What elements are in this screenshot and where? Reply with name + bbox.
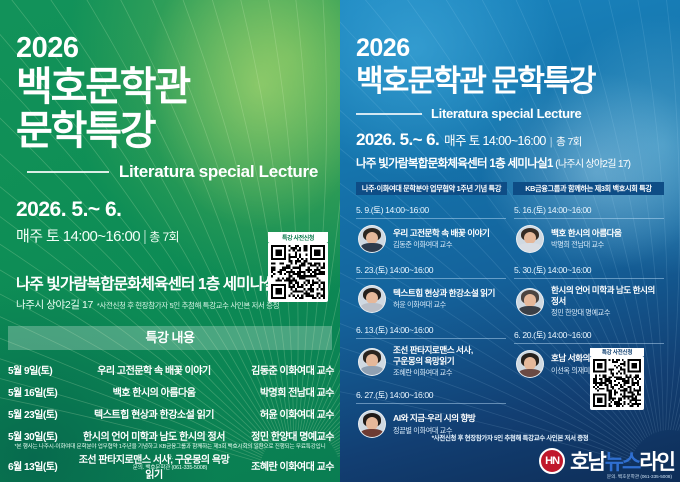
qr-code-icon[interactable] [590, 356, 644, 410]
avatar [358, 285, 386, 313]
blue-latin-subtitle: Literatura special Lecture [431, 106, 581, 121]
green-qr-caption: 특강 사전신청 [268, 232, 328, 242]
avatar [516, 350, 544, 378]
blue-time-separator: | [550, 136, 552, 148]
divider-rule [356, 403, 506, 404]
green-address: 나주시 상야2길 17 [16, 299, 93, 311]
hn-word-c: 라인 [639, 451, 674, 474]
blue-session-count: 총 7회 [556, 134, 582, 149]
hn-badge-icon: HN [539, 448, 565, 474]
session-title: 텍스트힙 현상과 한강소설 읽기 [393, 288, 495, 299]
session-text: 조선 판타지로맨스 서사,구운몽의 욕망읽기조혜란 이화여대 교수 [393, 345, 473, 378]
session-title: 조선 판타지로맨스 서사,구운몽의 욕망읽기 [393, 345, 473, 366]
avatar [516, 288, 544, 316]
session-slot: 5. 23.(토) 14:00~16:00텍스트힙 현상과 한강소설 읽기허윤 … [356, 264, 506, 317]
blue-column-left: 5. 9.(토) 14:00~16:00우리 고전문학 속 배꽃 이야기김동준 … [356, 204, 506, 449]
poster-blue: 2026 백호문학관 문학특강 Literatura special Lectu… [340, 0, 680, 482]
divider-rule [356, 218, 506, 219]
session-time: 6. 27.(토) 14:00~16:00 [356, 389, 506, 403]
session-speaker: 박명희 전남대 교수 [551, 240, 621, 250]
divider-rule [356, 278, 506, 279]
blue-band-right: KB금융그룹과 함께하는 제3회 백호시회 특강 [513, 182, 664, 195]
avatar [358, 225, 386, 253]
poster-pair: 2026 백호문학관 문학특강 Literatura special Lectu… [0, 0, 680, 482]
divider-rule [27, 171, 109, 173]
session-speaker: 조혜란 이화여대 교수 [393, 368, 473, 378]
list-item: 백호 한시의 아름다움박명희 전남대 교수 [514, 224, 664, 257]
blue-year: 2026 [356, 34, 664, 63]
green-session-count: 총 7회 [149, 230, 179, 244]
list-item: 우리 고전문학 속 배꽃 이야기김동준 이화여대 교수 [356, 224, 506, 257]
session-time: 6. 13.(토) 14:00~16:00 [356, 324, 506, 338]
avatar [358, 348, 386, 376]
session-time: 5. 30.(토) 14:00~16:00 [514, 264, 664, 278]
session-slot: 5. 16.(토) 14:00~16:00백호 한시의 아름다움박명희 전남대 … [514, 204, 664, 257]
blue-schedule-time: 매주 토 14:00~16:00 [444, 130, 546, 149]
green-title-line1: 백호문학관 [16, 67, 324, 109]
session-time: 5. 23.(토) 14:00~16:00 [356, 264, 506, 278]
blue-latin-row: Literatura special Lecture [356, 106, 664, 121]
green-time-separator: | [143, 228, 146, 245]
hn-word-b: 뉴스 [605, 451, 640, 474]
session-text: 백호 한시의 아름다움박명희 전남대 교수 [551, 228, 621, 251]
green-date-range: 2026. 5.~ 6. [16, 198, 324, 222]
list-item: 조선 판타지로맨스 서사,구운몽의 욕망읽기조혜란 이화여대 교수 [356, 344, 506, 382]
session-title: 백호 한시의 아름다움 [551, 228, 621, 239]
session-slot: 5. 9.(토) 14:00~16:00우리 고전문학 속 배꽃 이야기김동준 … [356, 204, 506, 257]
blue-date-range: 2026. 5.~ 6. [356, 130, 439, 150]
green-title-line2: 문학특강 [16, 111, 324, 153]
session-time: 6. 20.(토) 14:00~16:00 [514, 329, 664, 343]
list-item: 텍스트힙 현상과 한강소설 읽기허윤 이화여대 교수 [356, 284, 506, 317]
session-slot: 5. 30.(토) 14:00~16:00한시의 언어 미학과 남도 한시의 정… [514, 264, 664, 322]
blue-contact-sub: 문의. 백호문학관 (061-335-5008) [607, 474, 672, 480]
session-text: 텍스트힙 현상과 한강소설 읽기허윤 이화여대 교수 [393, 288, 495, 311]
session-title: AI와 지금·우리 시의 향방 [393, 413, 475, 424]
green-schedule-time: 매주 토 14:00~16:00 [16, 228, 140, 245]
session-time: 5. 16.(토) 14:00~16:00 [514, 204, 664, 218]
blue-band-row: 나주·이화여대 문학분야 업무협약 1주년 기념 특강 KB금융그룹과 함께하는… [356, 182, 664, 195]
session-speaker: 허윤 이화여대 교수 [393, 300, 495, 310]
green-year: 2026 [16, 32, 324, 65]
divider-rule [514, 278, 664, 279]
session-speaker: 정민 한양대 명예교수 [551, 308, 664, 318]
blue-venue: 나주 빛가람복합문화체육센터 1층 세미나실1 [356, 158, 553, 170]
session-title: 한시의 언어 미학과 남도 한시의 정서 [551, 285, 664, 306]
blue-venue-row: 나주 빛가람복합문화체육센터 1층 세미나실1 (나주시 상야2길 17) [356, 155, 664, 171]
green-latin-subtitle: Literatura special Lecture [119, 162, 318, 182]
blue-column-right: 5. 16.(토) 14:00~16:00백호 한시의 아름다움박명희 전남대 … [514, 204, 664, 449]
qr-code-icon[interactable] [268, 242, 328, 302]
blue-note: *사전신청 후 현장참가자 5인 추첨해 특강교수 사인본 저서 증정 [340, 433, 680, 442]
green-address-note: *사전신청 후 현장참가자 5인 추첨해 특강교수 사인본 저서 증정 [97, 301, 279, 310]
blue-address: (나주시 상야2길 17) [555, 159, 630, 170]
session-title: 우리 고전문학 속 배꽃 이야기 [393, 228, 489, 239]
poster-green: 2026 백호문학관 문학특강 Literatura special Lectu… [0, 0, 340, 482]
session-slot: 6. 13.(토) 14:00~16:00조선 판타지로맨스 서사,구운몽의 욕… [356, 324, 506, 382]
session-speaker: 김동준 이화여대 교수 [393, 240, 489, 250]
honam-newsline-logo: HN 호남뉴스라인 [539, 446, 674, 476]
divider-rule [514, 218, 664, 219]
avatar [516, 225, 544, 253]
blue-title: 백호문학관 문학특강 [356, 65, 664, 98]
blue-band-left: 나주·이화여대 문학분야 업무협약 1주년 기념 특강 [356, 182, 507, 195]
session-text: 한시의 언어 미학과 남도 한시의 정서정민 한양대 명예교수 [551, 285, 664, 318]
blue-date-line: 2026. 5.~ 6. 매주 토 14:00~16:00 | 총 7회 [356, 130, 664, 150]
hn-word-a: 호남 [570, 451, 605, 474]
blue-qr-block[interactable]: 특강 사전신청 [590, 348, 644, 410]
blue-qr-caption: 특강 사전신청 [590, 348, 644, 356]
hn-wordmark: 호남뉴스라인 [570, 446, 674, 476]
green-footnote-line1: *본 행사는 나주시-이화여대 문학분야 업무협약 1주년을 기념하고 KB금융… [12, 442, 328, 463]
green-footnote-line2: 문의. 백호문학관 (061-335-5008) [12, 463, 328, 474]
green-footnote: *본 행사는 나주시-이화여대 문학분야 업무협약 1주년을 기념하고 KB금융… [0, 442, 340, 474]
session-text: 우리 고전문학 속 배꽃 이야기김동준 이화여대 교수 [393, 228, 489, 251]
divider-rule [356, 338, 506, 339]
session-time: 5. 9.(토) 14:00~16:00 [356, 204, 506, 218]
divider-rule [514, 343, 664, 344]
divider-rule [356, 113, 422, 115]
green-latin-row: Literatura special Lecture [16, 162, 324, 182]
green-qr-block[interactable]: 특강 사전신청 [268, 232, 328, 302]
blue-session-columns: 5. 9.(토) 14:00~16:00우리 고전문학 속 배꽃 이야기김동준 … [356, 204, 664, 449]
list-item: 한시의 언어 미학과 남도 한시의 정서정민 한양대 명예교수 [514, 284, 664, 322]
